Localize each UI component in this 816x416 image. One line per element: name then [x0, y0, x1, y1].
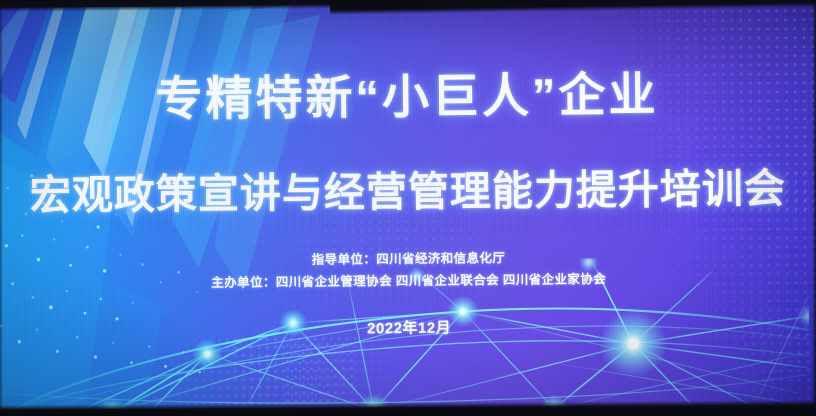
slide-content: 专精特新“小巨人”企业 宏观政策宣讲与经营管理能力提升培训会 指导单位：四川省经… [0, 0, 816, 414]
guidance-unit-value: 四川省经济和信息化厅 [376, 251, 505, 266]
organizer-block: 指导单位：四川省经济和信息化厅 主办单位：四川省企业管理协会 四川省企业联合会 … [0, 244, 816, 296]
slide-screenshot: 专精特新“小巨人”企业 宏观政策宣讲与经营管理能力提升培训会 指导单位：四川省经… [0, 0, 816, 416]
main-title: 专精特新“小巨人”企业 [0, 66, 816, 128]
host-unit-value: 四川省企业管理协会 四川省企业联合会 四川省企业家协会 [276, 272, 606, 289]
guidance-unit-label: 指导单位： [312, 252, 377, 267]
subtitle: 宏观政策宣讲与经营管理能力提升培训会 [0, 163, 816, 221]
host-unit-label: 主办单位： [211, 275, 276, 290]
date-label: 2022年12月 [0, 313, 816, 342]
projection-screen: 专精特新“小巨人”企业 宏观政策宣讲与经营管理能力提升培训会 指导单位：四川省经… [0, 0, 816, 414]
